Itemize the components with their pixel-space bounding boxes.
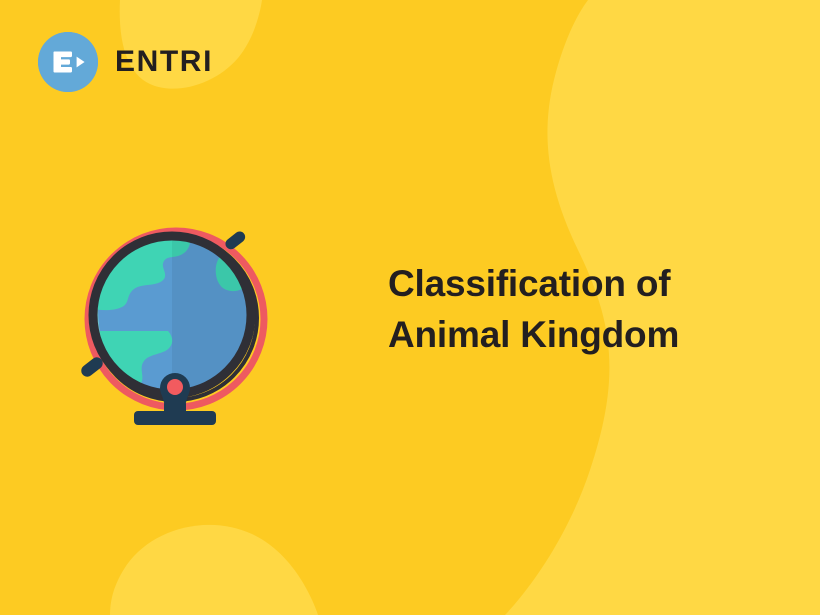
globe-stand-knob	[167, 379, 183, 395]
banner-root: ENTRI	[0, 0, 820, 615]
page-title-line-2: Animal Kingdom	[388, 309, 764, 360]
brand-wordmark: ENTRI	[115, 47, 213, 77]
brand-logo-lockup[interactable]: ENTRI	[38, 32, 213, 92]
entri-e-arrow-icon	[38, 32, 98, 92]
page-title: Classification of Animal Kingdom	[388, 258, 764, 360]
globe-on-stand-icon	[72, 203, 282, 431]
globe-stand-base	[134, 411, 216, 425]
page-title-line-1: Classification of	[388, 258, 764, 309]
